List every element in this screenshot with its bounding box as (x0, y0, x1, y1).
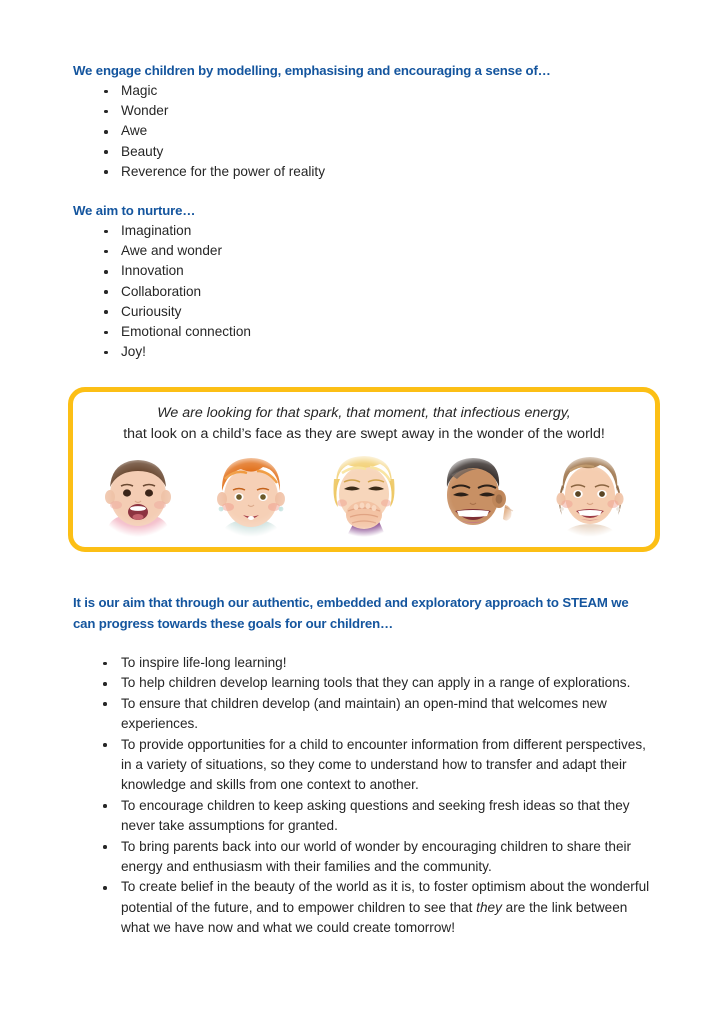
section-engage: We engage children by modelling, emphasi… (73, 61, 673, 182)
list-item: To provide opportunities for a child to … (85, 735, 651, 796)
list-item: Awe (73, 121, 673, 141)
list-item: Innovation (73, 261, 673, 281)
section-engage-list: Magic Wonder Awe Beauty Reverence for th… (73, 81, 673, 182)
callout-quote-line-1: We are looking for that spark, that mome… (73, 392, 655, 424)
photo-baby-laughing (88, 449, 188, 541)
photo-toddler-red-hair (201, 449, 301, 541)
list-item: To help children develop learning tools … (85, 673, 651, 693)
list-item: To encourage children to keep asking que… (85, 796, 651, 837)
list-item: Joy! (73, 342, 673, 362)
list-item: Reverence for the power of reality (73, 162, 673, 182)
document-page: We engage children by modelling, emphasi… (0, 0, 719, 1024)
section-nurture-list: Imagination Awe and wonder Innovation Co… (73, 221, 673, 362)
list-item: Magic (73, 81, 673, 101)
quote-photo-callout: We are looking for that spark, that mome… (68, 387, 660, 552)
list-item: To ensure that children develop (and mai… (85, 694, 651, 735)
callout-photo-row (73, 449, 655, 541)
section-goals-list: To inspire life-long learning! To help c… (85, 653, 651, 939)
list-item: To inspire life-long learning! (85, 653, 651, 673)
list-item: Collaboration (73, 282, 673, 302)
list-item: Wonder (73, 101, 673, 121)
section-goals-heading-wrap: It is our aim that through our authentic… (73, 593, 651, 634)
section-nurture: We aim to nurture… Imagination Awe and w… (73, 201, 673, 362)
photo-boy-laughing (427, 449, 527, 541)
callout-quote-line-2: that look on a child’s face as they are … (73, 424, 655, 445)
emphasised-word: they (476, 900, 502, 915)
list-item-last: To create belief in the beauty of the wo… (85, 877, 651, 938)
photo-girl-covering-mouth (314, 449, 414, 541)
photo-girl-smiling (540, 449, 640, 541)
section-nurture-heading: We aim to nurture… (73, 201, 673, 221)
list-item: Emotional connection (73, 322, 673, 342)
list-item: Curiousity (73, 302, 673, 322)
section-goals-heading: It is our aim that through our authentic… (73, 593, 651, 634)
section-engage-heading: We engage children by modelling, emphasi… (73, 61, 673, 81)
list-item: Beauty (73, 142, 673, 162)
list-item: To bring parents back into our world of … (85, 837, 651, 878)
list-item: Imagination (73, 221, 673, 241)
list-item: Awe and wonder (73, 241, 673, 261)
